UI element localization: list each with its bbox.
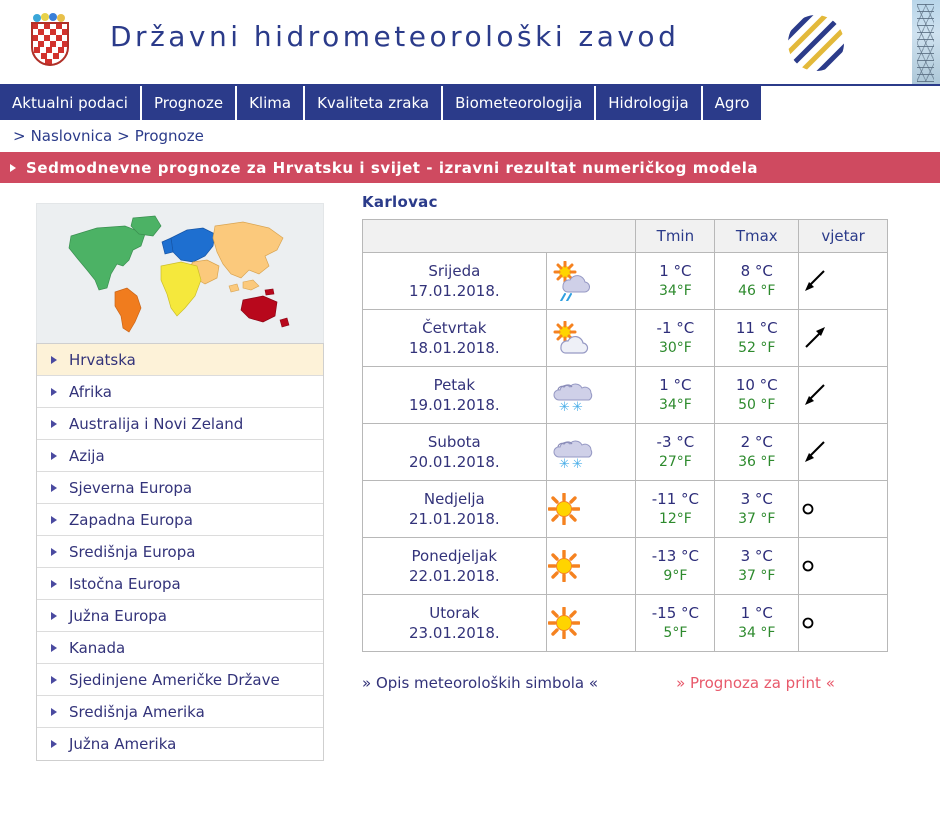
sidebar-item-label: Istočna Europa	[69, 575, 181, 593]
day-cell: Petak 19.01.2018.	[363, 367, 547, 424]
nav-item-biometeorologija[interactable]: Biometeorologija	[443, 86, 596, 120]
nav-item-prognoze[interactable]: Prognoze	[142, 86, 237, 120]
table-row: Utorak 23.01.2018.	[363, 595, 888, 652]
sidebar-item-sredisnja-europa[interactable]: Središnja Europa	[37, 536, 323, 568]
column-header-tmin: Tmin	[636, 220, 715, 253]
sun-cloud-rain-icon	[548, 261, 635, 301]
tmin-cell: -13 °C 9°F	[636, 538, 715, 595]
tmax-celsius: 11 °C	[715, 318, 798, 338]
day-name: Ponedjeljak	[412, 547, 498, 565]
wind-cell	[799, 367, 888, 424]
sidebar-item-label: Kanada	[69, 639, 125, 657]
day-name: Utorak	[429, 604, 479, 622]
tmin-celsius: -1 °C	[636, 318, 714, 338]
triangle-right-icon	[51, 484, 57, 492]
tmin-celsius: 1 °C	[636, 375, 714, 395]
world-regions-map[interactable]	[36, 203, 324, 343]
city-name: Karlovac	[362, 193, 892, 211]
croatian-coat-of-arms-icon	[27, 11, 73, 69]
arrow-southwest-icon	[800, 382, 886, 408]
day-date: 19.01.2018.	[409, 396, 500, 414]
day-cell: Četvrtak 18.01.2018.	[363, 310, 547, 367]
tmin-celsius: -13 °C	[636, 546, 714, 566]
tmin-fahrenheit: 9°F	[636, 566, 714, 586]
sidebar-item-kanada[interactable]: Kanada	[37, 632, 323, 664]
region-menu: Hrvatska Afrika Australija i Novi Zeland…	[36, 343, 324, 761]
sidebar-item-label: Hrvatska	[69, 351, 136, 369]
tmax-celsius: 1 °C	[715, 603, 798, 623]
day-date: 18.01.2018.	[409, 339, 500, 357]
tmax-cell: 10 °C 50 °F	[715, 367, 799, 424]
tmax-cell: 1 °C 34 °F	[715, 595, 799, 652]
sun-cloud-icon	[548, 321, 635, 355]
breadcrumb-prefix: >	[13, 127, 26, 145]
tmin-cell: 1 °C 34°F	[636, 253, 715, 310]
tmax-fahrenheit: 36 °F	[715, 452, 798, 472]
wind-cell	[799, 310, 888, 367]
tmin-fahrenheit: 5°F	[636, 623, 714, 643]
sidebar-item-istocna-europa[interactable]: Istočna Europa	[37, 568, 323, 600]
main-navigation: Aktualni podaci Prognoze Klima Kvaliteta…	[0, 86, 940, 120]
table-row: Nedjelja 21.01.2018.	[363, 481, 888, 538]
sidebar-item-zapadna-europa[interactable]: Zapadna Europa	[37, 504, 323, 536]
section-banner: Sedmodnevne prognoze za Hrvatsku i svije…	[0, 152, 940, 183]
day-cell: Utorak 23.01.2018.	[363, 595, 547, 652]
tmax-cell: 2 °C 36 °F	[715, 424, 799, 481]
table-row: Četvrtak 18.01.2018.	[363, 310, 888, 367]
tmax-celsius: 10 °C	[715, 375, 798, 395]
site-header: Državni hidrometeorološki zavod	[0, 0, 940, 86]
day-cell: Srijeda 17.01.2018.	[363, 253, 547, 310]
day-name: Subota	[428, 433, 481, 451]
table-row: Subota 20.01.2018. ✳✳	[363, 424, 888, 481]
sidebar-item-label: Središnja Europa	[69, 543, 195, 561]
breadcrumb-item-prognoze[interactable]: Prognoze	[135, 127, 204, 145]
tmin-celsius: -11 °C	[636, 489, 714, 509]
tmin-cell: 1 °C 34°F	[636, 367, 715, 424]
day-name: Srijeda	[428, 262, 480, 280]
triangle-right-icon	[51, 612, 57, 620]
sidebar-item-australija-i-novi-zeland[interactable]: Australija i Novi Zeland	[37, 408, 323, 440]
banner-text: Sedmodnevne prognoze za Hrvatsku i svije…	[26, 159, 758, 177]
weather-icon-cell	[546, 253, 636, 310]
tmin-cell: -11 °C 12°F	[636, 481, 715, 538]
wind-cell	[799, 481, 888, 538]
triangle-right-icon	[51, 548, 57, 556]
day-date: 21.01.2018.	[409, 510, 500, 528]
tmax-fahrenheit: 52 °F	[715, 338, 798, 358]
breadcrumb: > Naslovnica > Prognoze	[0, 120, 940, 152]
nav-item-agro[interactable]: Agro	[703, 86, 762, 120]
nav-item-hidrologija[interactable]: Hidrologija	[596, 86, 702, 120]
forecast-table: Tmin Tmax vjetar Srijeda 17.01.2018.	[362, 219, 888, 652]
sun-icon	[548, 493, 635, 525]
day-name: Nedjelja	[424, 490, 485, 508]
table-row: Petak 19.01.2018. ✳✳	[363, 367, 888, 424]
tmin-celsius: -3 °C	[636, 432, 714, 452]
weather-icon-cell	[546, 538, 636, 595]
forecast-panel: Karlovac Tmin Tmax vjetar Srijeda 17.01.…	[362, 193, 892, 692]
wind-cell	[799, 253, 888, 310]
sidebar-item-label: Australija i Novi Zeland	[69, 415, 243, 433]
tmax-cell: 3 °C 37 °F	[715, 481, 799, 538]
sidebar-item-label: Afrika	[69, 383, 112, 401]
content-area: Hrvatska Afrika Australija i Novi Zeland…	[0, 183, 940, 813]
tmax-fahrenheit: 37 °F	[715, 509, 798, 529]
calm-circle-icon	[800, 615, 886, 631]
nav-item-kvaliteta-zraka[interactable]: Kvaliteta zraka	[305, 86, 443, 120]
column-header-blank	[363, 220, 636, 253]
wind-cell	[799, 595, 888, 652]
triangle-right-icon	[51, 516, 57, 524]
calm-circle-icon	[800, 558, 886, 574]
tmin-celsius: 1 °C	[636, 261, 714, 281]
sidebar: Hrvatska Afrika Australija i Novi Zeland…	[36, 203, 324, 761]
sun-icon	[548, 550, 635, 582]
table-row: Ponedjeljak 22.01.2018.	[363, 538, 888, 595]
wind-cell	[799, 538, 888, 595]
svg-text:✳: ✳	[559, 457, 570, 470]
sidebar-item-sjedinjene-americke-drzave[interactable]: Sjedinjene Američke Države	[37, 664, 323, 696]
sidebar-item-label: Sjedinjene Američke Države	[69, 671, 280, 689]
tmax-fahrenheit: 37 °F	[715, 566, 798, 586]
tmin-fahrenheit: 34°F	[636, 281, 714, 301]
triangle-right-icon	[51, 388, 57, 396]
tmin-cell: -1 °C 30°F	[636, 310, 715, 367]
nav-item-klima[interactable]: Klima	[237, 86, 305, 120]
tmin-cell: -15 °C 5°F	[636, 595, 715, 652]
forecast-links: » Opis meteoroloških simbola « » Prognoz…	[362, 674, 892, 692]
breadcrumb-item-naslovnica[interactable]: Naslovnica	[31, 127, 113, 145]
tmax-fahrenheit: 46 °F	[715, 281, 798, 301]
tmin-fahrenheit: 34°F	[636, 395, 714, 415]
day-date: 23.01.2018.	[409, 624, 500, 642]
triangle-right-icon	[51, 676, 57, 684]
tmax-cell: 3 °C 37 °F	[715, 538, 799, 595]
tmin-fahrenheit: 27°F	[636, 452, 714, 472]
tmax-celsius: 3 °C	[715, 546, 798, 566]
tmax-celsius: 8 °C	[715, 261, 798, 281]
sidebar-item-label: Azija	[69, 447, 105, 465]
calm-circle-icon	[800, 501, 886, 517]
day-date: 20.01.2018.	[409, 453, 500, 471]
svg-text:✳: ✳	[572, 457, 583, 470]
page-title: Državni hidrometeorološki zavod	[110, 20, 679, 53]
column-header-vjetar: vjetar	[799, 220, 888, 253]
day-name: Četvrtak	[422, 319, 486, 337]
day-cell: Subota 20.01.2018.	[363, 424, 547, 481]
tmin-fahrenheit: 12°F	[636, 509, 714, 529]
cloud-snow-icon: ✳✳	[548, 434, 635, 470]
arrow-southwest-icon	[800, 439, 886, 465]
triangle-right-icon	[51, 580, 57, 588]
sidebar-item-label: Južna Europa	[69, 607, 167, 625]
sidebar-item-juzna-amerika[interactable]: Južna Amerika	[37, 728, 323, 760]
sun-icon	[548, 607, 635, 639]
sidebar-item-sredisnja-amerika[interactable]: Središnja Amerika	[37, 696, 323, 728]
sidebar-item-label: Sjeverna Europa	[69, 479, 192, 497]
sidebar-item-juzna-europa[interactable]: Južna Europa	[37, 600, 323, 632]
triangle-right-icon	[51, 644, 57, 652]
svg-text:✳: ✳	[572, 400, 583, 413]
triangle-right-icon	[51, 452, 57, 460]
triangle-right-icon	[51, 740, 57, 748]
tmax-cell: 11 °C 52 °F	[715, 310, 799, 367]
day-cell: Ponedjeljak 22.01.2018.	[363, 538, 547, 595]
table-header-row: Tmin Tmax vjetar	[363, 220, 888, 253]
day-date: 22.01.2018.	[409, 567, 500, 585]
weather-icon-cell: ✳✳	[546, 367, 636, 424]
sidebar-item-label: Središnja Amerika	[69, 703, 205, 721]
day-cell: Nedjelja 21.01.2018.	[363, 481, 547, 538]
table-row: Srijeda 17.01.2018.	[363, 253, 888, 310]
tmin-fahrenheit: 30°F	[636, 338, 714, 358]
sidebar-item-label: Južna Amerika	[69, 735, 176, 753]
day-date: 17.01.2018.	[409, 282, 500, 300]
tmax-celsius: 2 °C	[715, 432, 798, 452]
cloud-snow-icon: ✳✳	[548, 377, 635, 413]
day-name: Petak	[434, 376, 476, 394]
breadcrumb-separator: >	[117, 127, 130, 145]
sidebar-item-hrvatska[interactable]: Hrvatska	[37, 344, 323, 376]
tmax-fahrenheit: 50 °F	[715, 395, 798, 415]
weather-icon-cell	[546, 481, 636, 538]
nav-item-aktualni-podaci[interactable]: Aktualni podaci	[0, 86, 142, 120]
sidebar-item-label: Zapadna Europa	[69, 511, 193, 529]
triangle-right-icon	[51, 708, 57, 716]
link-prognoza-za-print[interactable]: » Prognoza za print «	[676, 674, 835, 692]
arrow-northeast-icon	[800, 325, 886, 351]
tmax-celsius: 3 °C	[715, 489, 798, 509]
tmax-cell: 8 °C 46 °F	[715, 253, 799, 310]
sidebar-item-azija[interactable]: Azija	[37, 440, 323, 472]
weather-icon-cell: ✳✳	[546, 424, 636, 481]
tmax-fahrenheit: 34 °F	[715, 623, 798, 643]
triangle-right-icon	[51, 356, 57, 364]
column-header-tmax: Tmax	[715, 220, 799, 253]
triangle-right-icon	[51, 420, 57, 428]
tmin-celsius: -15 °C	[636, 603, 714, 623]
weather-icon-cell	[546, 310, 636, 367]
arrow-southwest-icon	[800, 268, 886, 294]
weather-icon-cell	[546, 595, 636, 652]
weather-tower-photo	[912, 0, 940, 84]
sidebar-item-afrika[interactable]: Afrika	[37, 376, 323, 408]
tmin-cell: -3 °C 27°F	[636, 424, 715, 481]
triangle-right-icon	[10, 164, 16, 172]
svg-text:✳: ✳	[559, 400, 570, 413]
link-opis-simbola[interactable]: » Opis meteoroloških simbola «	[362, 674, 598, 692]
wind-cell	[799, 424, 888, 481]
sidebar-item-sjeverna-europa[interactable]: Sjeverna Europa	[37, 472, 323, 504]
dhmz-sphere-logo-icon	[785, 12, 847, 74]
